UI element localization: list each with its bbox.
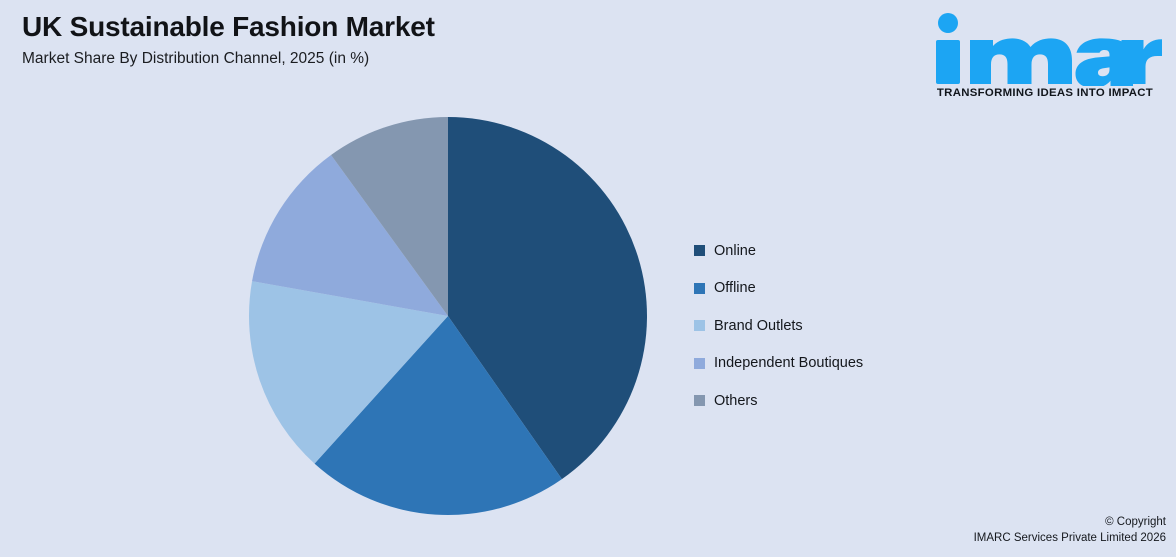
legend-label: Online bbox=[714, 244, 756, 259]
legend-swatch-icon bbox=[694, 358, 705, 369]
imarc-logo: TRANSFORMING IDEAS INTO IMPACT bbox=[922, 12, 1168, 99]
legend-label: Brand Outlets bbox=[714, 319, 803, 334]
legend-item-independent-boutiques[interactable]: Independent Boutiques bbox=[694, 345, 1024, 383]
page-title: UK Sustainable Fashion Market bbox=[22, 10, 902, 44]
legend-label: Independent Boutiques bbox=[714, 356, 863, 371]
legend-item-offline[interactable]: Offline bbox=[694, 270, 1024, 308]
copyright-line-2: IMARC Services Private Limited 2026 bbox=[974, 530, 1166, 547]
legend-swatch-icon bbox=[694, 320, 705, 331]
imarc-wordmark-icon bbox=[926, 12, 1164, 86]
legend-label: Offline bbox=[714, 281, 756, 296]
chart-legend: Online Offline Brand Outlets Independent… bbox=[694, 232, 1024, 420]
legend-item-brand-outlets[interactable]: Brand Outlets bbox=[694, 307, 1024, 345]
copyright-line-1: © Copyright bbox=[974, 514, 1166, 531]
legend-item-online[interactable]: Online bbox=[694, 232, 1024, 270]
pie-chart-svg bbox=[248, 116, 648, 516]
chart-page: UK Sustainable Fashion Market Market Sha… bbox=[0, 0, 1176, 557]
legend-swatch-icon bbox=[694, 283, 705, 294]
legend-label: Others bbox=[714, 394, 758, 409]
legend-swatch-icon bbox=[694, 245, 705, 256]
copyright-notice: © Copyright IMARC Services Private Limit… bbox=[974, 514, 1166, 547]
logo-tagline: TRANSFORMING IDEAS INTO IMPACT bbox=[922, 87, 1168, 99]
chart-subtitle: Market Share By Distribution Channel, 20… bbox=[22, 50, 902, 69]
chart-header: UK Sustainable Fashion Market Market Sha… bbox=[22, 10, 902, 68]
legend-item-others[interactable]: Others bbox=[694, 382, 1024, 420]
pie-chart bbox=[248, 116, 648, 516]
legend-swatch-icon bbox=[694, 395, 705, 406]
